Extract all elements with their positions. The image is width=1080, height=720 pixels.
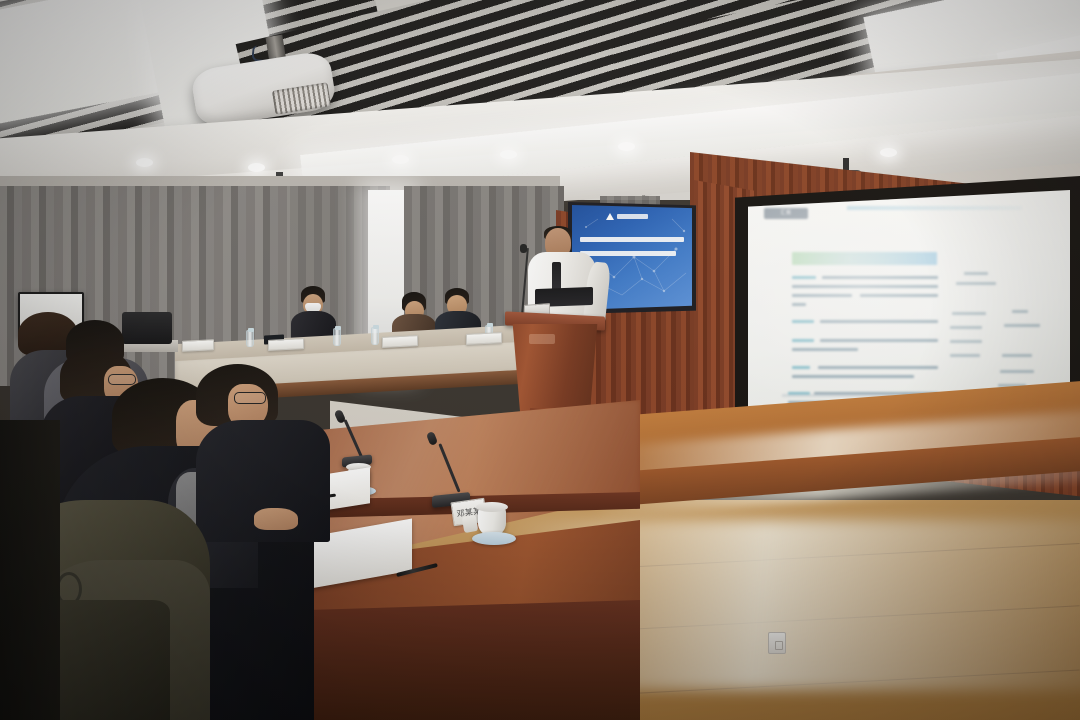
- podium-microphone-icon[interactable]: [520, 244, 527, 253]
- slide-right-line-1: [964, 272, 988, 275]
- slide-body-key-3: [792, 339, 814, 342]
- slide-right-line-7: [950, 340, 982, 343]
- slide-body-line-5: [792, 303, 806, 306]
- slide-body-line-10: [792, 375, 914, 378]
- slide-body-line-7: [820, 339, 938, 342]
- downlight-4: [500, 150, 517, 159]
- slide-title-bar: [792, 252, 937, 265]
- slide-right-line-5: [950, 326, 982, 329]
- slide-right-line-2: [956, 282, 996, 285]
- slide-body-line-2: [792, 285, 938, 288]
- saucer-3: [472, 532, 516, 545]
- water-bottle-2[interactable]: [333, 328, 341, 346]
- slide-body-line-8: [792, 348, 858, 351]
- banner-headline-row-1: [580, 237, 684, 242]
- triangle-logo-icon: [606, 212, 652, 221]
- wall-outlet-icon[interactable]: [768, 632, 786, 654]
- av-equipment-box: [122, 312, 172, 344]
- slide-right-line-9: [1002, 354, 1032, 357]
- water-bottle-3[interactable]: [371, 327, 379, 345]
- eyeglasses-icon: [108, 374, 136, 385]
- slide-right-line-8: [950, 354, 980, 357]
- nameplate-3: [382, 335, 418, 348]
- slide-tag-label: 汇报: [764, 208, 808, 219]
- teacup-handle: [462, 515, 479, 533]
- nameplate-4: [466, 332, 502, 345]
- slide-body-key-2: [792, 320, 814, 323]
- teacup-lid-3: [476, 502, 508, 512]
- downlight-5: [618, 142, 635, 151]
- slide-right-line-4: [1012, 310, 1028, 313]
- foreground-dark-edge: [0, 420, 60, 720]
- slide-body-line-3: [792, 294, 852, 297]
- nameplate-2: [268, 338, 304, 351]
- banner-headline-row-2: [580, 251, 676, 256]
- slide-body-line-9: [818, 366, 938, 369]
- slide-right-line-10: [1000, 370, 1034, 373]
- slide-body-line-6: [820, 320, 938, 323]
- slide-right-line-3: [952, 312, 986, 315]
- slide-body-key-1: [792, 276, 816, 279]
- downlight-6: [880, 148, 897, 157]
- eyeglasses-icon-2: [234, 392, 266, 404]
- slide-body-line-1: [822, 276, 938, 279]
- podium-emblem: [529, 334, 555, 344]
- speaker-podium: [509, 324, 601, 412]
- downlight-1: [136, 158, 153, 167]
- slide-body-line-4: [860, 294, 938, 297]
- downlight-3: [392, 155, 409, 164]
- downlight-2: [248, 163, 265, 172]
- water-bottle-1[interactable]: [246, 330, 254, 347]
- projector-vent-grille-icon: [272, 82, 331, 114]
- attendee-right-hand: [254, 508, 298, 530]
- slide-header-rule: [847, 206, 1022, 210]
- slide-tag-badge: 汇报: [764, 208, 808, 219]
- conference-room-photo: 汇报: [0, 0, 1080, 720]
- slide-right-line-6: [1004, 324, 1040, 327]
- slide-body-key-4: [792, 366, 810, 369]
- nameplate-1: [182, 339, 214, 352]
